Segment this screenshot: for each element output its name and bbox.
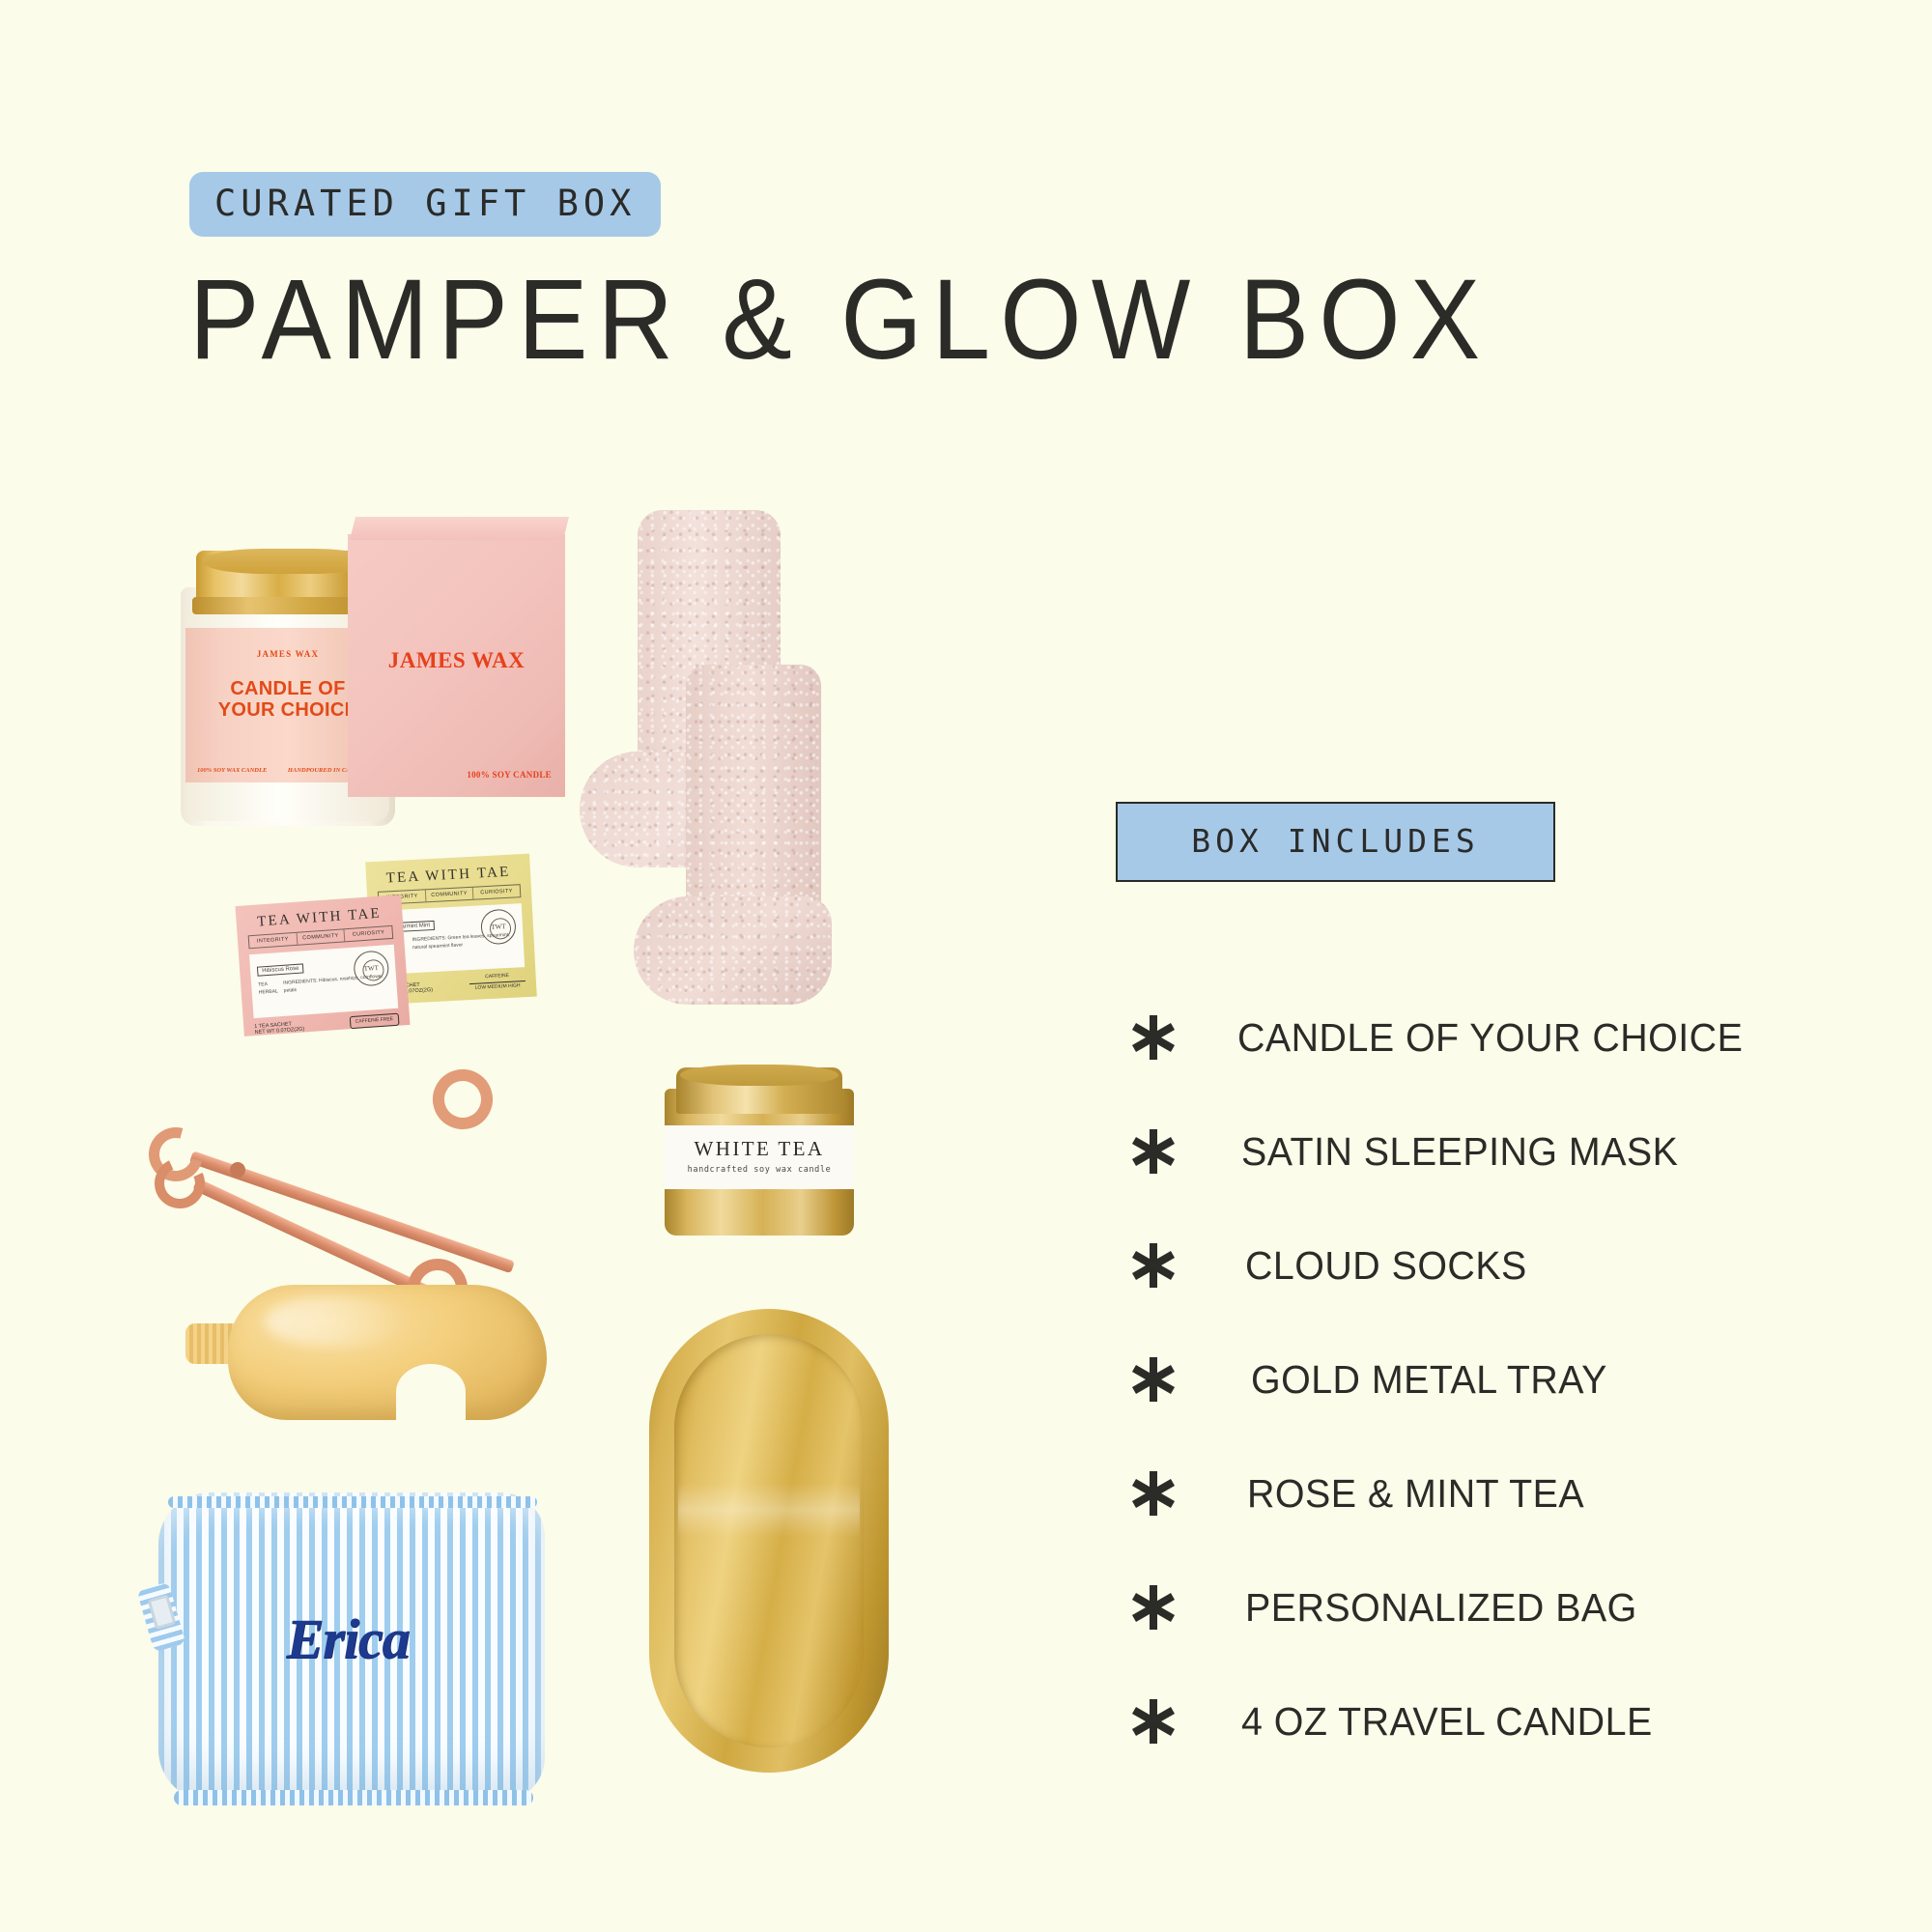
list-item-label: CANDLE OF YOUR CHOICE [1237, 1015, 1743, 1061]
list-item-label: CLOUD SOCKS [1245, 1243, 1527, 1289]
product-sleeping-mask [172, 1279, 549, 1443]
tin-lid-top [680, 1065, 838, 1086]
tray-reflection [678, 1483, 860, 1537]
sachet-tag: COMMUNITY [297, 929, 345, 944]
candle-box-top-flap [350, 517, 569, 540]
product-candle-box: JAMES WAX 100% SOY CANDLE [348, 517, 565, 797]
asterisk-icon [1116, 1126, 1191, 1177]
list-item: PERSONALIZED BAG [1116, 1550, 1869, 1664]
tin-label-name: WHITE TEA [665, 1137, 854, 1161]
product-gold-tray [649, 1309, 889, 1773]
list-item-label: SATIN SLEEPING MASK [1241, 1129, 1678, 1175]
jar-title-line2: YOUR CHOICE [218, 699, 357, 721]
candle-box-footer: 100% SOY CANDLE [467, 770, 552, 780]
sachet-pink-face: TEA WITH TAE INTEGRITY COMMUNITY CURIOSI… [236, 895, 411, 1037]
product-cloud-socks [578, 510, 867, 1003]
sachet-tag: CURIOSITY [345, 926, 392, 941]
bag-embroidered-name: Erica [145, 1606, 551, 1671]
sachet-pink-card: Hibiscus Rose TWT TEA HERBAL INGREDIENTS… [249, 945, 398, 1018]
list-item: CLOUD SOCKS [1116, 1208, 1869, 1322]
mask-satin-sheen [265, 1296, 410, 1347]
list-item-label: GOLD METAL TRAY [1251, 1357, 1607, 1403]
sachet-pink-caffeine-badge: CAFFEINE FREE [349, 1013, 399, 1029]
list-item: SATIN SLEEPING MASK [1116, 1094, 1869, 1208]
trimmer-handle-ring-upper [425, 1062, 500, 1137]
candle-box-brand: JAMES WAX [348, 648, 565, 673]
jar-title-line1: CANDLE OF [230, 678, 345, 699]
sock-foot-front [634, 896, 832, 1005]
list-item: 4 OZ TRAVEL CANDLE [1116, 1664, 1869, 1778]
mask-nose-notch [396, 1364, 466, 1420]
sachet-caffeine-scale: CAFFEINE LOW MEDIUM HIGH [469, 972, 526, 991]
sachet-caffeine-label: CAFFEINE [485, 973, 509, 980]
list-item-label: 4 OZ TRAVEL CANDLE [1241, 1699, 1653, 1745]
product-wick-trimmer [145, 1077, 531, 1299]
sachet-tag: INTEGRITY [249, 933, 298, 948]
sachet-pink-flavor: Hibiscus Rose [257, 963, 304, 976]
product-personalized-bag: Erica [145, 1492, 551, 1811]
asterisk-icon [1116, 1696, 1191, 1747]
product-travel-candle-tin: WHITE TEA handcrafted soy wax candle [665, 1067, 854, 1236]
list-item: GOLD METAL TRAY [1116, 1322, 1869, 1436]
bag-top-piping [168, 1496, 537, 1508]
asterisk-icon [1116, 1468, 1191, 1519]
asterisk-icon [1116, 1240, 1191, 1291]
product-tea-sachet-rose: TEA WITH TAE INTEGRITY COMMUNITY CURIOSI… [236, 895, 411, 1037]
box-includes-panel: BOX INCLUDES CANDLE OF YOUR CHOICE SATIN… [1116, 802, 1869, 1778]
bag-bottom-piping [174, 1790, 533, 1805]
list-item-label: PERSONALIZED BAG [1245, 1585, 1637, 1631]
sachet-pink-type: TEA HERBAL [258, 980, 284, 997]
tin-label-subtitle: handcrafted soy wax candle [665, 1165, 854, 1175]
sachet-caffeine-levels: LOW MEDIUM HIGH [475, 982, 521, 990]
sachet-tag: COMMUNITY [426, 888, 474, 902]
list-item: ROSE & MINT TEA [1116, 1436, 1869, 1550]
tray-inner-well [674, 1334, 864, 1747]
candle-box-face: JAMES WAX 100% SOY CANDLE [348, 534, 565, 797]
trimmer-pivot-screw [230, 1162, 245, 1178]
sachet-yellow-brand: TEA WITH TAE [377, 864, 521, 888]
asterisk-icon [1116, 1012, 1191, 1063]
list-item: CANDLE OF YOUR CHOICE [1116, 980, 1869, 1094]
includes-list: CANDLE OF YOUR CHOICE SATIN SLEEPING MAS… [1116, 980, 1869, 1778]
asterisk-icon [1116, 1354, 1191, 1405]
asterisk-icon [1116, 1582, 1191, 1633]
jar-footer-left: 100% SOY WAX CANDLE [197, 767, 267, 774]
sachet-tag: CURIOSITY [473, 885, 521, 898]
list-item-label: ROSE & MINT TEA [1247, 1471, 1584, 1517]
box-includes-heading: BOX INCLUDES [1116, 802, 1555, 882]
product-flatlay: JAMES WAX CANDLE OF YOUR CHOICE 100% SOY… [0, 0, 966, 1932]
